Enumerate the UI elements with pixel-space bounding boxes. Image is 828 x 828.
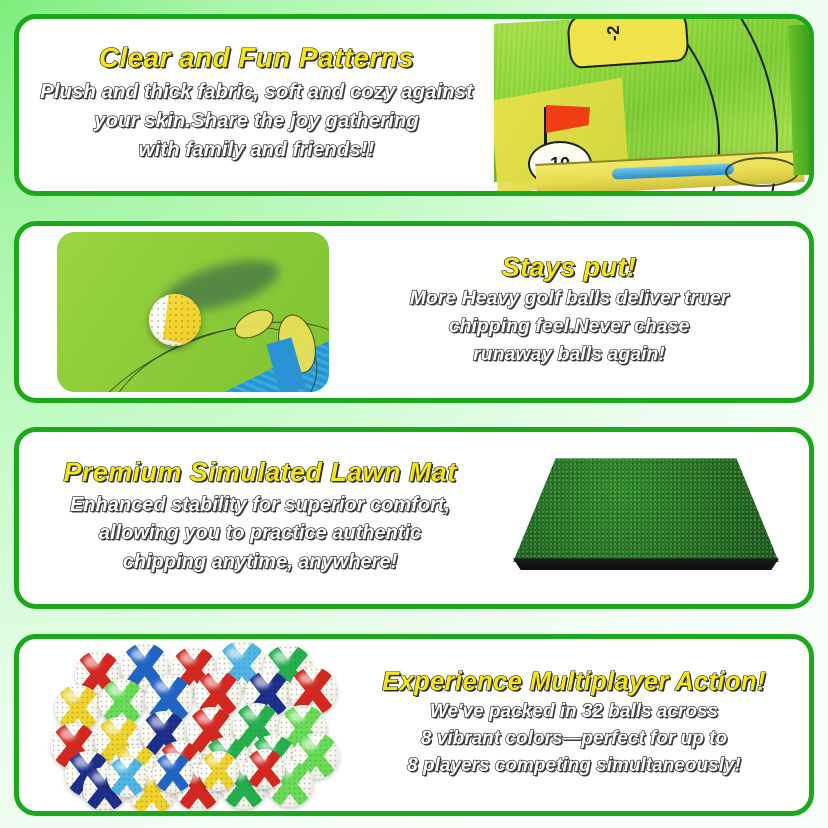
ball-highlight	[289, 711, 305, 723]
feature-panel-premium-simulated-lawn-mat: Premium Simulated Lawn Mat Enhanced stab…	[14, 427, 814, 609]
golf-ball	[149, 294, 201, 346]
panel-headline: Premium Simulated Lawn Mat	[64, 458, 457, 488]
ball-dimples	[149, 294, 201, 346]
panel-text-column: Premium Simulated Lawn Mat Enhanced stab…	[19, 456, 501, 580]
panel-headline: Clear and Fun Patterns	[99, 43, 414, 74]
ball-highlight	[161, 758, 175, 768]
ball-highlight	[105, 723, 121, 735]
ball-highlight	[207, 756, 221, 766]
product-infographic-poster: Clear and Fun Patterns Plush and thick f…	[0, 0, 828, 828]
mat-print-detail	[725, 157, 799, 187]
golf-ball	[153, 753, 193, 793]
ball-highlight	[60, 728, 76, 739]
panel-media-column	[19, 232, 329, 392]
ball-highlight	[84, 656, 100, 667]
golf-ball	[107, 757, 147, 797]
panel-text-column: Stays put! More Heavy golf balls deliver…	[329, 251, 809, 373]
panel-headline: Experience Multiplayer Action!	[382, 668, 766, 696]
panel-body-line: with family and friends!!	[139, 135, 375, 164]
panel-body-line: chipping anytime, anywhere!	[123, 548, 398, 576]
mat-score-zone	[566, 19, 689, 69]
ball-highlight	[64, 690, 80, 701]
ball-highlight	[254, 676, 270, 687]
ball-highlight	[273, 651, 290, 663]
ball-highlight	[227, 647, 244, 659]
turf-surface	[513, 458, 779, 562]
panel-text-column: Experience Multiplayer Action! We've pac…	[339, 666, 809, 784]
turf-rubber-base	[513, 558, 779, 570]
panel-body-line: More Heavy golf balls deliver truer	[410, 285, 729, 313]
ball-highlight	[197, 713, 213, 725]
ball-highlight	[204, 676, 220, 687]
panel-body-line: We've packed in 32 balls across	[430, 699, 718, 726]
ball-highlight	[74, 756, 90, 767]
ball-highlight	[253, 754, 267, 764]
panel-media-column	[19, 641, 339, 809]
ball-highlight	[108, 684, 124, 695]
feature-panel-experience-multiplayer-action: Experience Multiplayer Action! We've pac…	[14, 634, 814, 816]
ball-highlight	[180, 652, 196, 663]
ball-highlight	[92, 772, 107, 783]
panel-text-column: Clear and Fun Patterns Plush and thick f…	[19, 41, 494, 168]
panel-headline: Stays put!	[502, 253, 637, 283]
feature-panel-stays-put: Stays put! More Heavy golf balls deliver…	[14, 221, 814, 403]
ball-highlight	[155, 681, 171, 693]
panel-body-line: 8 players competing simultaneously!	[407, 753, 741, 780]
feature-panel-clear-and-fun-patterns: Clear and Fun Patterns Plush and thick f…	[14, 14, 814, 196]
panel-body-line: 8 vibrant colors—perfect for up to	[421, 726, 727, 753]
turf-practice-mat-photo	[501, 452, 791, 584]
panel-body-line: runaway balls again!	[473, 341, 665, 369]
panel-body-line: allowing you to practice authentic	[99, 519, 421, 547]
golf-ball	[245, 749, 285, 789]
ball-highlight	[299, 673, 315, 685]
panel-body-line: chipping feel.Never chase	[449, 313, 690, 341]
panel-media-column: -2 10	[494, 19, 809, 191]
ball-highlight	[302, 738, 318, 749]
colorful-golf-balls-cluster-photo	[49, 641, 339, 809]
golf-ball-on-mat-photo	[57, 232, 329, 392]
panel-body-line: Enhanced stability for superior comfort,	[70, 491, 450, 519]
panel-body-line: your skin.Share the joy gathering	[94, 106, 419, 135]
ball-highlight	[131, 649, 147, 661]
ball-highlight	[243, 709, 259, 721]
mat-zone-score-label: -2	[604, 25, 625, 42]
panel-media-column	[501, 452, 809, 584]
golf-ball	[199, 751, 239, 791]
folded-chipping-mat-photo: -2 10	[494, 19, 809, 191]
ball-highlight	[115, 762, 129, 772]
panel-body-line: Plush and thick fabric, soft and cozy ag…	[40, 77, 473, 106]
ball-highlight	[150, 716, 166, 727]
